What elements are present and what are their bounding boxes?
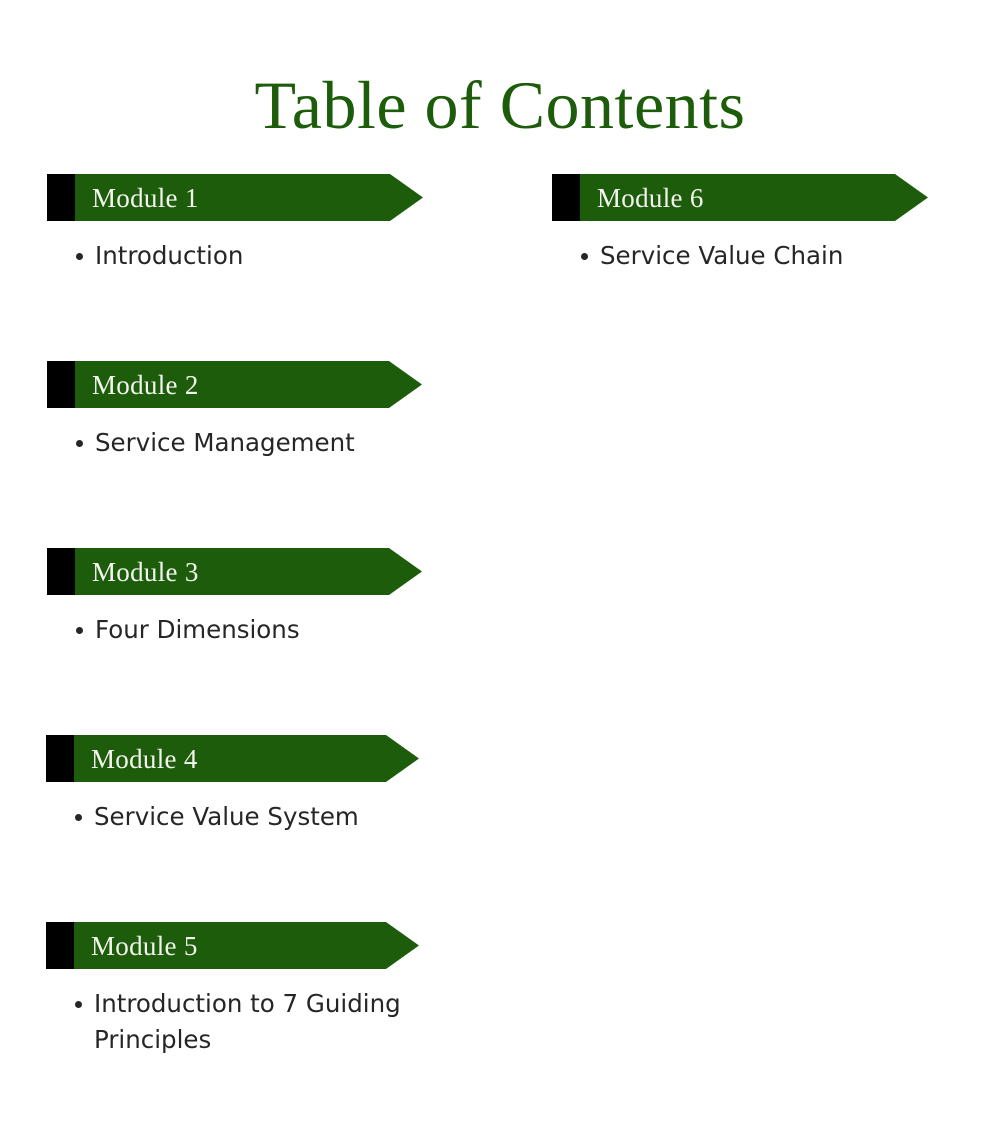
module-block-4[interactable]: Module 4 Service Value System <box>46 735 467 835</box>
module-block-3[interactable]: Module 3 Four Dimensions <box>47 548 467 648</box>
module-bullets-2: Service Management <box>47 425 467 461</box>
module-banner-1[interactable]: Module 1 <box>47 174 423 221</box>
module-block-2[interactable]: Module 2 Service Management <box>47 361 467 461</box>
module-label-3: Module 3 <box>75 557 199 587</box>
module-column-left: Module 1 Introduction Module 2 Service M… <box>47 174 467 1145</box>
module-label-1: Module 1 <box>75 183 199 213</box>
module-banner-2[interactable]: Module 2 <box>47 361 422 408</box>
module-label-5: Module 5 <box>74 931 198 961</box>
banner-arrow-shape: Module 6 <box>580 174 928 221</box>
list-item: Four Dimensions <box>47 612 425 648</box>
banner-cap-icon <box>46 735 74 782</box>
list-item: Service Value System <box>46 799 424 835</box>
module-label-6: Module 6 <box>580 183 704 213</box>
module-bullets-6: Service Value Chain <box>552 238 972 274</box>
module-banner-6[interactable]: Module 6 <box>552 174 928 221</box>
list-item: Service Management <box>47 425 425 461</box>
module-label-4: Module 4 <box>74 744 198 774</box>
slide-canvas: Table of Contents Module 1 Introduction … <box>0 0 1000 1000</box>
list-item: Service Value Chain <box>552 238 972 274</box>
banner-cap-icon <box>47 548 75 595</box>
module-label-2: Module 2 <box>75 370 199 400</box>
module-bullets-5: Introduction to 7 Guiding Principles <box>46 986 467 1058</box>
module-block-1[interactable]: Module 1 Introduction <box>47 174 467 274</box>
module-bullets-1: Introduction <box>47 238 467 274</box>
banner-cap-icon <box>46 922 74 969</box>
banner-cap-icon <box>47 361 75 408</box>
banner-cap-icon <box>552 174 580 221</box>
banner-cap-icon <box>47 174 75 221</box>
banner-arrow-shape: Module 3 <box>75 548 422 595</box>
banner-arrow-shape: Module 2 <box>75 361 422 408</box>
module-bullets-4: Service Value System <box>46 799 467 835</box>
banner-arrow-shape: Module 4 <box>74 735 419 782</box>
module-banner-4[interactable]: Module 4 <box>46 735 419 782</box>
list-item: Introduction to 7 Guiding Principles <box>46 986 424 1058</box>
banner-arrow-shape: Module 1 <box>75 174 423 221</box>
banner-arrow-shape: Module 5 <box>74 922 419 969</box>
module-block-6[interactable]: Module 6 Service Value Chain <box>552 174 972 274</box>
module-column-right: Module 6 Service Value Chain <box>552 174 972 361</box>
module-banner-5[interactable]: Module 5 <box>46 922 419 969</box>
module-bullets-3: Four Dimensions <box>47 612 467 648</box>
list-item: Introduction <box>47 238 425 274</box>
module-banner-3[interactable]: Module 3 <box>47 548 422 595</box>
module-block-5[interactable]: Module 5 Introduction to 7 Guiding Princ… <box>46 922 467 1058</box>
page-title: Table of Contents <box>0 68 1000 142</box>
